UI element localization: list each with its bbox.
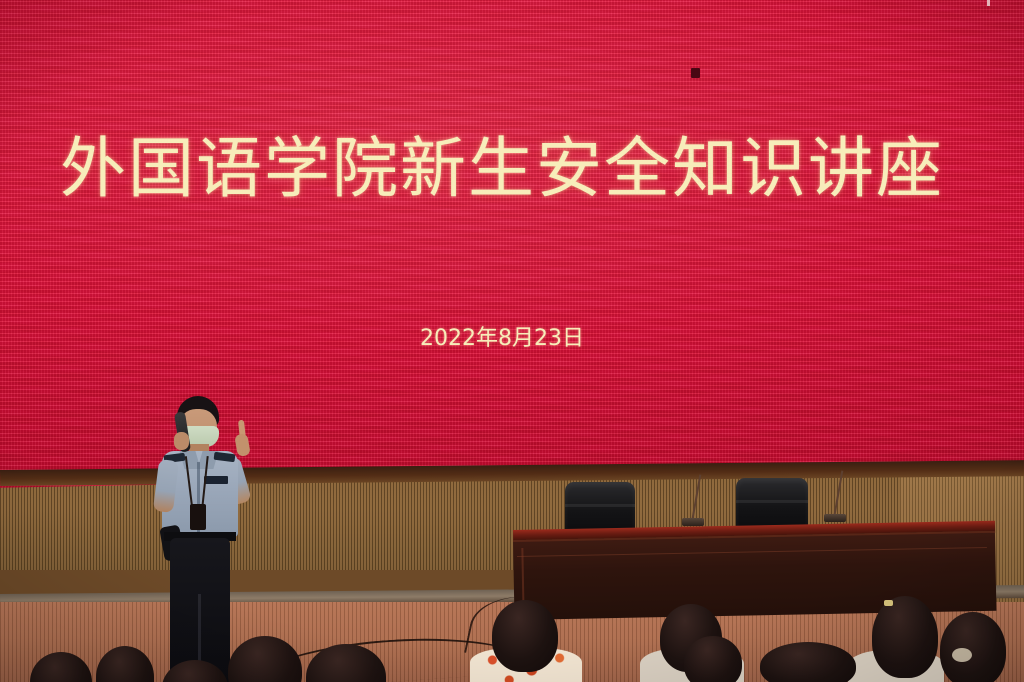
lanyard-badge-holder [190, 504, 206, 530]
photo-scene: 外国语学院新生安全知识讲座 2022年8月23日 [0, 0, 1024, 682]
audience-head [872, 596, 938, 678]
uniform-name-badge [204, 476, 228, 484]
mic-base [824, 514, 846, 522]
led-screen-title: 外国语学院新生安全知识讲座 [0, 136, 1014, 202]
led-screen-date: 2022年8月23日 [0, 328, 1014, 350]
chair-left [565, 482, 635, 534]
chair-band [736, 500, 808, 503]
chair-band [565, 504, 635, 507]
speaker-pointing-hand [234, 433, 251, 457]
audience-head [940, 612, 1006, 682]
chair-right [736, 478, 808, 530]
audience-head [760, 642, 856, 682]
dead-pixel-block-icon [691, 68, 700, 78]
mic-base [682, 518, 704, 526]
bright-pixel-sliver-icon [987, 0, 990, 6]
hair-clip-icon [884, 600, 893, 606]
speaker-mic-hand [174, 432, 189, 450]
audience-head [684, 636, 742, 682]
hair-scrunchie-icon [952, 648, 972, 662]
audience-head [492, 600, 558, 672]
